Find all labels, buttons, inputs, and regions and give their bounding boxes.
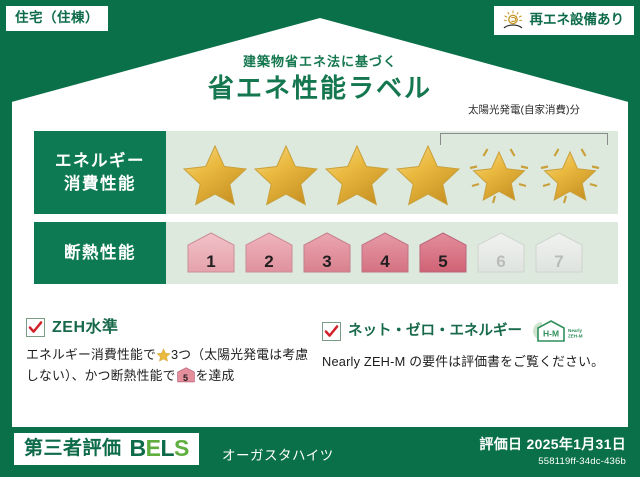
svg-text:H-M: H-M — [543, 329, 559, 339]
star-filled — [180, 140, 250, 206]
insulation-level-group: 1 2 3 4 — [166, 231, 586, 275]
zeh-body-star-count: 3つ — [171, 347, 191, 362]
star-solar — [464, 140, 534, 206]
zeh-note-title: ZEH水準 — [52, 320, 119, 336]
bels-certification-box: 第三者評価 BELS — [14, 433, 199, 465]
insulation-level-value: 2 — [242, 253, 296, 270]
svg-text:ZEH-M: ZEH-M — [568, 334, 583, 339]
check-icon — [324, 324, 339, 339]
title-main: 省エネ性能ラベル — [0, 75, 640, 101]
metrics-section: エネルギー 消費性能 太陽光発電(自家消費)分 — [34, 131, 618, 284]
bels-letter-l: L — [160, 435, 174, 461]
insulation-performance-row: 断熱性能 1 — [34, 222, 618, 284]
criteria-notes-section: ZEH水準 エネルギー消費性能で3つ（太陽光発電は考慮しない）、かつ断熱性能で5… — [26, 318, 618, 386]
bels-letter-b: B — [130, 435, 146, 461]
building-name: オーガスタハイツ — [222, 449, 334, 463]
label-footer: 第三者評価 BELS オーガスタハイツ 評価日 2025年1月31日 55811… — [0, 427, 640, 477]
energy-label-line2: 消費性能 — [64, 173, 136, 195]
star-filled — [322, 140, 392, 206]
building-type-tag: 住宅（住棟） — [6, 6, 108, 31]
insulation-performance-label-box: 断熱性能 — [34, 222, 166, 284]
insulation-level-4: 4 — [358, 231, 412, 275]
insulation-level-6: 6 — [474, 231, 528, 275]
zeh-body-part3: を達成 — [196, 368, 235, 383]
zeh-note-body: エネルギー消費性能で3つ（太陽光発電は考慮しない）、かつ断熱性能で5を達成 — [26, 344, 310, 386]
insulation-level-value: 5 — [416, 253, 470, 270]
insulation-label: 断熱性能 — [64, 242, 136, 264]
insulation-level-5: 5 — [416, 231, 470, 275]
star-filled — [251, 140, 321, 206]
evaluation-date: 評価日 2025年1月31日 — [479, 437, 626, 451]
nearly-zeh-m-logo-icon: H-M Nearly ZEH-M — [531, 318, 585, 344]
energy-label-line1: エネルギー — [55, 150, 145, 172]
bels-letter-s: S — [174, 435, 189, 461]
check-icon — [28, 320, 43, 335]
insulation-level-value: 4 — [358, 253, 412, 270]
inline-star-icon — [156, 347, 171, 362]
zeh-body-part1: エネルギー消費性能で — [26, 347, 156, 362]
net-zero-energy-note: ネット・ゼロ・エネルギー H-M Nearly ZEH-M Nearly ZEH… — [322, 318, 618, 386]
zeh-note-header: ZEH水準 — [26, 318, 310, 337]
insulation-level-7: 7 — [532, 231, 586, 275]
solar-annotation-bracket — [440, 133, 608, 145]
insulation-level-1: 1 — [184, 231, 238, 275]
energy-performance-row: エネルギー 消費性能 太陽光発電(自家消費)分 — [34, 131, 618, 214]
insulation-level-value: 7 — [532, 253, 586, 270]
energy-performance-label: 住宅（住棟） 再エネ設備あり 建築物省エネ法に基づく 省エネ性能ラベル — [0, 0, 640, 477]
third-party-eval-label: 第三者評価 — [24, 439, 122, 458]
star-rating-group — [166, 140, 605, 206]
insulation-levels-area: 1 2 3 4 — [166, 222, 618, 284]
insulation-level-value: 1 — [184, 253, 238, 270]
zeh-checkbox — [26, 318, 45, 337]
solar-annotation-text: 太陽光発電(自家消費)分 — [440, 105, 608, 117]
solar-sun-icon — [502, 10, 524, 30]
star-filled — [393, 140, 463, 206]
energy-performance-label-box: エネルギー 消費性能 — [34, 131, 166, 214]
renewable-energy-label: 再エネ設備あり — [530, 13, 625, 27]
bels-logo: BELS — [130, 437, 189, 460]
nze-note-title: ネット・ゼロ・エネルギー — [348, 324, 522, 339]
inline-badge-value: 5 — [176, 374, 196, 383]
evaluation-id: 558119ff-34dc-436b — [538, 457, 626, 467]
insulation-level-3: 3 — [300, 231, 354, 275]
insulation-level-value: 6 — [474, 253, 528, 270]
title-subtitle: 建築物省エネ法に基づく — [0, 55, 640, 68]
renewable-energy-badge: 再エネ設備あり — [494, 6, 635, 35]
nze-checkbox — [322, 322, 341, 341]
nze-note-body: Nearly ZEH-M の要件は評価書をご覧ください。 — [322, 351, 606, 372]
label-title-block: 建築物省エネ法に基づく 省エネ性能ラベル — [0, 55, 640, 101]
star-solar — [535, 140, 605, 206]
bels-letter-e: E — [146, 435, 161, 461]
insulation-level-2: 2 — [242, 231, 296, 275]
zeh-standard-note: ZEH水準 エネルギー消費性能で3つ（太陽光発電は考慮しない）、かつ断熱性能で5… — [26, 318, 322, 386]
svg-text:Nearly: Nearly — [568, 328, 582, 333]
inline-insulation-badge-icon: 5 — [176, 367, 196, 383]
insulation-level-value: 3 — [300, 253, 354, 270]
energy-performance-stars-area: 太陽光発電(自家消費)分 — [166, 131, 618, 214]
nze-note-header: ネット・ゼロ・エネルギー H-M Nearly ZEH-M — [322, 318, 606, 344]
